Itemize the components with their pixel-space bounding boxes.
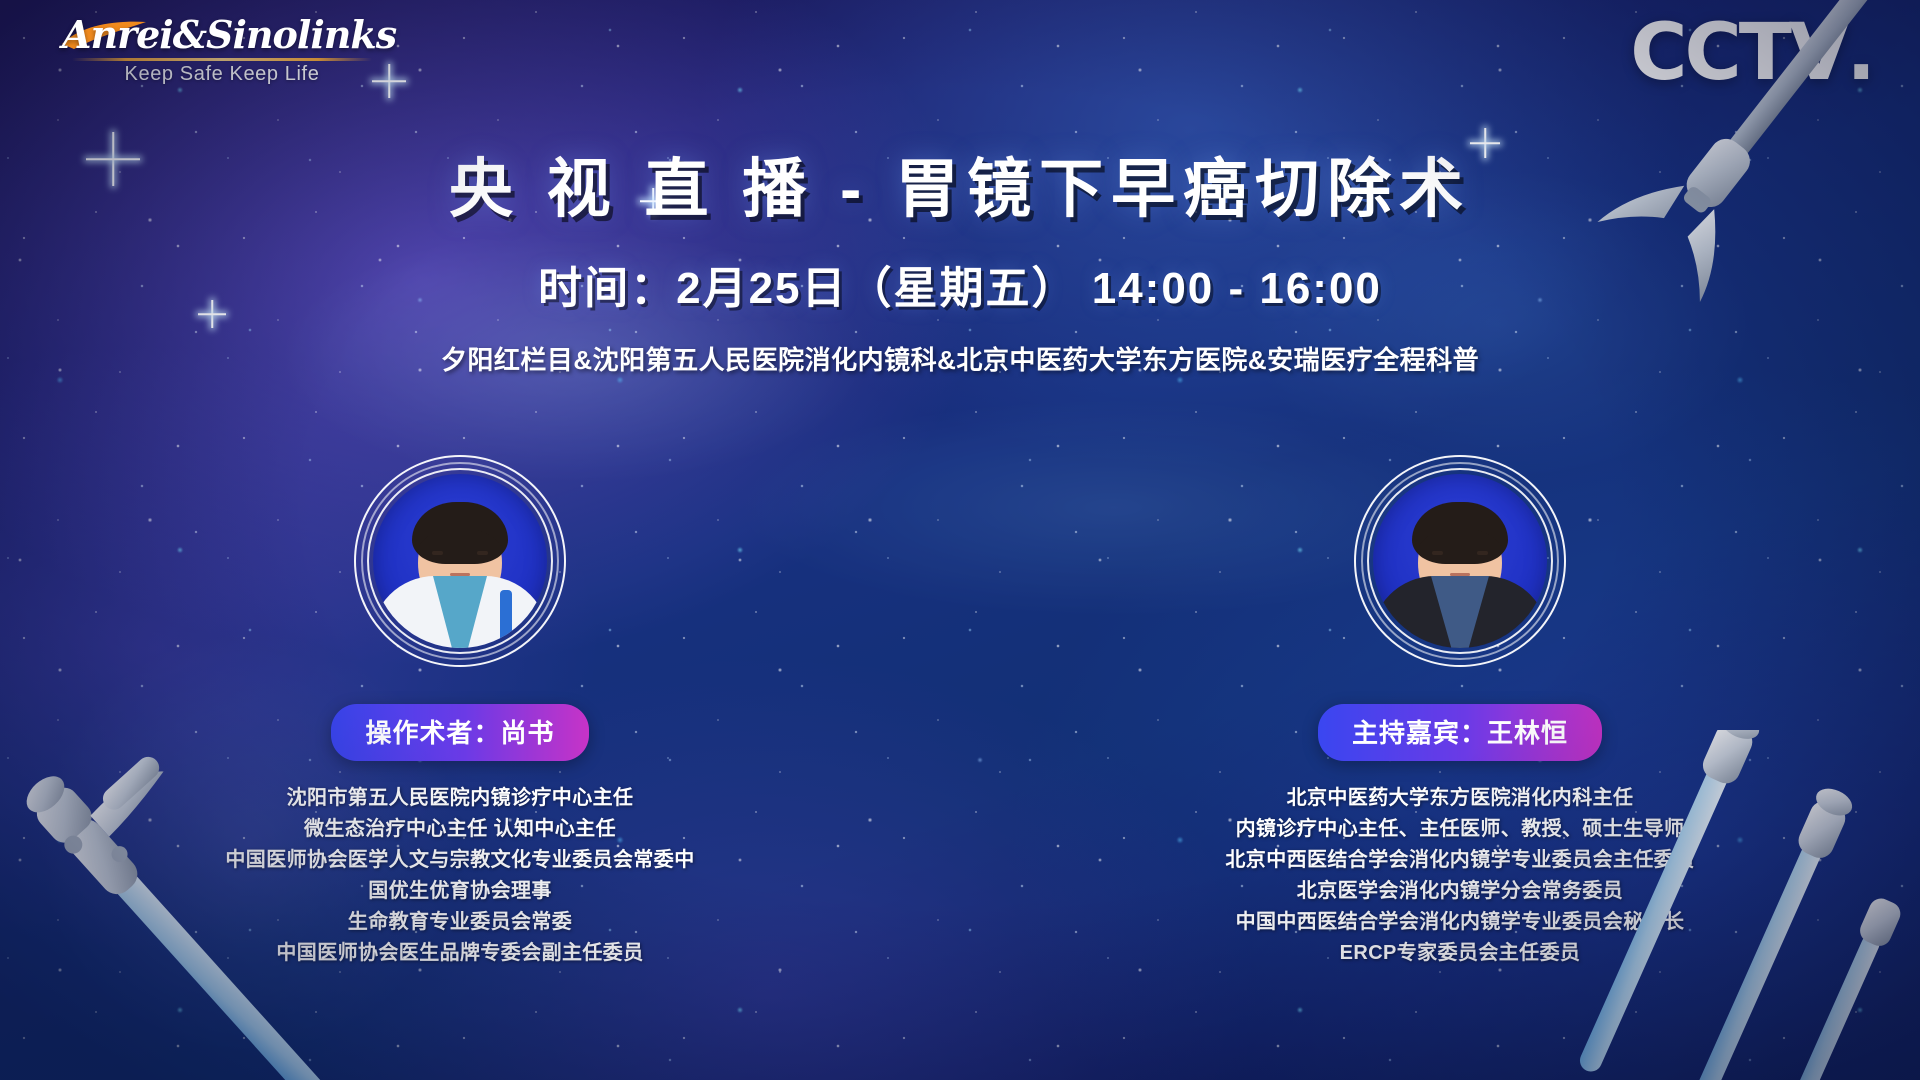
brand-name: Anrei&Sinolinks [62, 16, 382, 54]
bio-line: 北京中医药大学东方医院消化内科主任 [1180, 783, 1740, 814]
avatar-photo-host [1373, 474, 1547, 648]
role-badge-operator: 操作术者：尚书 [331, 704, 588, 761]
cctv-logo-text: CCTV [1630, 8, 1846, 98]
bio-line: 微生态治疗中心主任 认知中心主任 [180, 814, 740, 845]
avatar [354, 455, 566, 667]
bio-line: 沈阳市第五人民医院内镜诊疗中心主任 [180, 783, 740, 814]
person-card-host: 主持嘉宾：王林恒 北京中医药大学东方医院消化内科主任 内镜诊疗中心主任、主任医师… [1180, 455, 1740, 969]
brand-divider [72, 58, 372, 61]
brand-logo: Anrei&Sinolinks Keep Safe Keep Life [62, 16, 382, 86]
bio-operator: 沈阳市第五人民医院内镜诊疗中心主任 微生态治疗中心主任 认知中心主任 中国医师协… [180, 783, 740, 969]
bio-line: 中国医师协会医学人文与宗教文化专业委员会常委中 [180, 845, 740, 876]
event-partners: 夕阳红栏目&沈阳第五人民医院消化内镜科&北京中医药大学东方医院&安瑞医疗全程科普 [0, 340, 1920, 377]
person-card-operator: 操作术者：尚书 沈阳市第五人民医院内镜诊疗中心主任 微生态治疗中心主任 认知中心… [180, 455, 740, 969]
bio-line: 国优生优育协会理事 [180, 876, 740, 907]
role-badge-host: 主持嘉宾：王林恒 [1318, 704, 1602, 761]
cctv-logo-dot: . [1846, 8, 1876, 98]
cctv-logo: CCTV. [1630, 14, 1876, 92]
bio-line: 生命教育专业委员会常委 [180, 907, 740, 938]
bio-line: 北京中西医结合学会消化内镜学专业委员会主任委员 [1180, 845, 1740, 876]
bio-host: 北京中医药大学东方医院消化内科主任 内镜诊疗中心主任、主任医师、教授、硕士生导师… [1180, 783, 1740, 969]
bio-line: ERCP专家委员会主任委员 [1180, 938, 1740, 969]
people-section: 操作术者：尚书 沈阳市第五人民医院内镜诊疗中心主任 微生态治疗中心主任 认知中心… [0, 455, 1920, 969]
bio-line: 北京医学会消化内镜学分会常务委员 [1180, 876, 1740, 907]
bio-line: 中国医师协会医生品牌专委会副主任委员 [180, 938, 740, 969]
brand-tagline: Keep Safe Keep Life [62, 63, 382, 86]
page-title: 央 视 直 播 - 胃镜下早癌切除术 [0, 138, 1920, 230]
live-broadcast-poster: Anrei&Sinolinks Keep Safe Keep Life CCTV… [0, 0, 1920, 1080]
avatar [1354, 455, 1566, 667]
title-block: 央 视 直 播 - 胃镜下早癌切除术 时间：2月25日（星期五） 14:00 -… [0, 138, 1920, 377]
avatar-photo-operator [373, 474, 547, 648]
event-time: 时间：2月25日（星期五） 14:00 - 16:00 [0, 252, 1920, 316]
bio-line: 内镜诊疗中心主任、主任医师、教授、硕士生导师 [1180, 814, 1740, 845]
bio-line: 中国中西医结合学会消化内镜学专业委员会秘书长 [1180, 907, 1740, 938]
